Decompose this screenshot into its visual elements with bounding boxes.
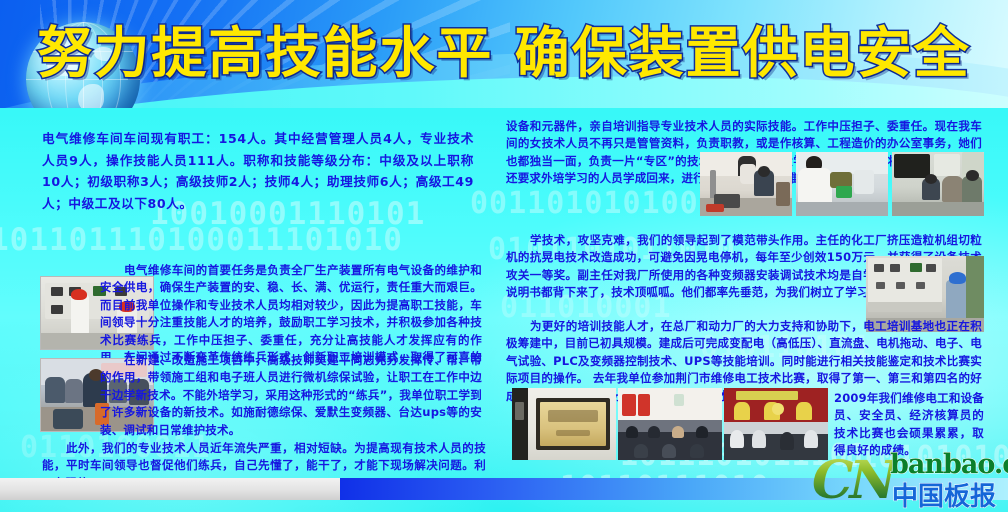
paragraph-project-training: 在新建、改造施工项目中，高级技师吴建平同志充分发挥传、帮、带的作用，带领施工组和… <box>100 352 482 439</box>
site-name-chinese: 中国板报网 <box>892 476 1008 512</box>
header-banner: 努力提高技能水平 确保装置供电安全 <box>0 0 1008 108</box>
photo-award-plaque <box>512 388 616 460</box>
poster-canvas: 10010001110101 101101110100011101010 001… <box>0 0 1008 512</box>
binary-watermark: 00110101010001 <box>470 186 737 221</box>
cn-logo-mark: CN <box>812 450 893 511</box>
binary-watermark: 101101110100011101010 <box>0 222 403 258</box>
photo-lab-instruction-3 <box>892 152 984 216</box>
site-watermark: CN banbao.cn 中国板报网 <box>812 452 1008 510</box>
photo-lab-instruction-2 <box>796 152 888 216</box>
photo-meeting-hall <box>618 388 722 460</box>
paragraph-staff-stats: 电气维修车间车间现有职工：154人。其中经营管理人员4人，专业技术人员9人，操作… <box>42 128 474 214</box>
page-title: 努力提高技能水平 确保装置供电安全 <box>0 22 1008 84</box>
photo-lab-instruction-1 <box>700 152 792 216</box>
